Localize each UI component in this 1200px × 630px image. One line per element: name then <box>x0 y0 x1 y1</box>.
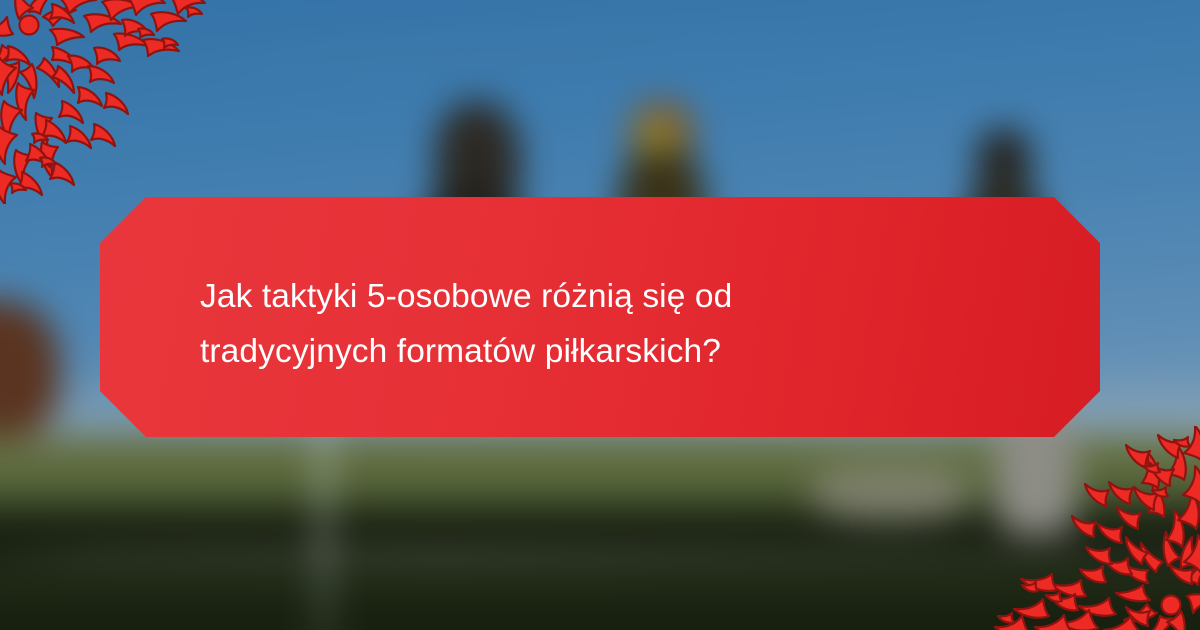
cover-image-canvas: Jak taktyki 5-osobowe różnią się od trad… <box>0 0 1200 630</box>
page-title: Jak taktyki 5-osobowe różnią się od trad… <box>200 269 860 379</box>
pitch-marking-line <box>0 550 1200 559</box>
goalpost <box>318 435 330 630</box>
spectator-silhouette <box>641 120 675 154</box>
spectator-silhouette <box>811 465 971 521</box>
